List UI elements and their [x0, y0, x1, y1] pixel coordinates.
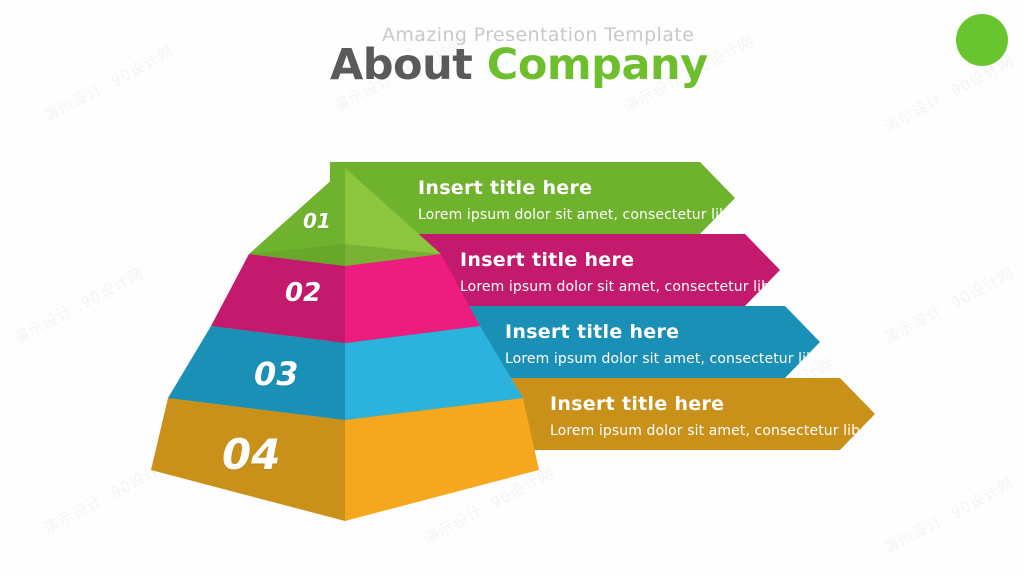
page-title: About Company	[330, 40, 708, 90]
decorative-circle-icon	[956, 14, 1008, 66]
tier-number-03: 03	[254, 355, 299, 393]
tier-number-02: 02	[285, 278, 321, 308]
presentation-slide: 演示设计 .90设计网 演示设计 .90设计网 演示设计 .90设计网 演示设计…	[0, 0, 1024, 576]
page-title-accent: Company	[487, 40, 708, 90]
tier-number-04: 04	[222, 430, 280, 479]
page-title-primary: About	[330, 40, 472, 90]
tier-number-01: 01	[303, 209, 331, 233]
tier-04-right-face	[345, 398, 539, 521]
